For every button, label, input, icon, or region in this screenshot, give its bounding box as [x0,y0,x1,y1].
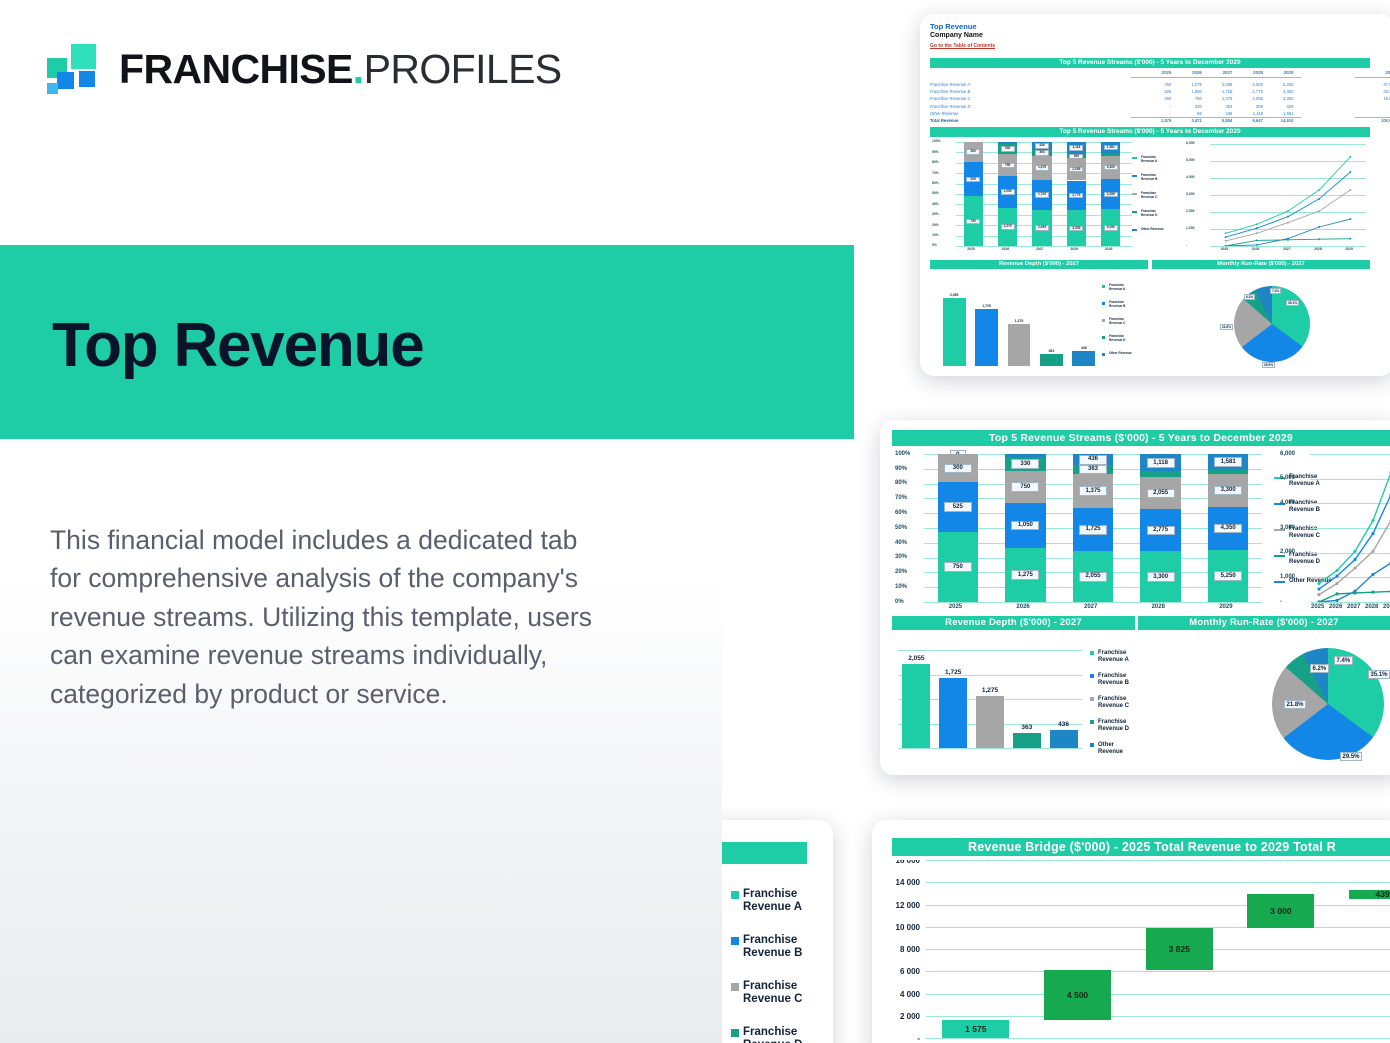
y-tick: 1,000 [1280,574,1295,580]
sheet-cell: 1,575 [1137,118,1171,123]
bar-data-label: 4,350 [1104,192,1118,198]
legend-swatch [1102,353,1105,356]
legend-label: Other Revenue [1098,742,1140,755]
legend-label: Other Revenue [1141,228,1169,232]
bar-data-label: 1,725 [1079,525,1107,535]
depth-data-label: 436 [1074,346,1094,350]
depth-bar [1050,730,1078,748]
x-tick: 2028 [1070,247,1078,251]
y-tick: 16 000 [876,860,920,865]
y-tick: 3,000 [1280,525,1295,531]
y-tick: 3,000 [1186,192,1195,196]
y-tick: 8 000 [876,945,920,954]
x-tick: 2029 [1383,604,1390,610]
sheet-cell: 1,050 [1168,89,1202,94]
y-tick: 60% [895,510,907,516]
sheet-cell: 2,775 [1229,89,1263,94]
sheet-row-label: Franchise Revenue C [930,96,971,101]
bar-data-label: 1,275 [1011,570,1039,580]
bar-data-label: 1,581 [1214,457,1242,467]
sheet-row-label: Franchise Revenue B [930,89,970,94]
legend-label: Franchise Revenue C [1109,318,1137,325]
sheet-cell: 2,055 [1229,96,1263,101]
bar-data-label: 330 [1011,459,1039,469]
x-tick: 2028 [1365,604,1378,610]
legend-swatch [731,1029,739,1037]
bar-data-label: 1,581 [1104,145,1118,151]
legend-item: Franchise Revenue A [1132,156,1169,163]
legend-swatch [1132,193,1137,195]
revenue-bridge-waterfall-chart: 16 00014 00012 00010 0008 0006 0004 0002… [872,860,1390,1043]
legend-item: Franchise Revenue C [1132,192,1169,199]
depth-bar [976,696,1004,748]
legend-label: Franchise Revenue A [1098,650,1140,663]
sheet-mini-pie-chart: 35.1%29.5%21.8%6.2%7.4% [1152,272,1370,376]
y-tick: 0% [932,243,937,247]
bar-data-label: 2,055 [1147,489,1175,499]
sheet-cell: 750 [1168,96,1202,101]
grid-line [926,882,1390,883]
pie-pct-label: 29.5% [1340,752,1362,761]
depth-data-label: 363 [1041,349,1061,353]
y-tick: - [1280,599,1282,605]
x-tick: 2025 [949,604,962,610]
legend-label: Franchise Revenue B [1098,673,1140,686]
legend-swatch [731,937,739,945]
y-tick: 30% [932,212,939,216]
revenue-bridge-panel: Revenue Bridge ($'000) - 2025 Total Reve… [872,820,1390,1043]
legend-label: Franchise Revenue D [1109,335,1137,342]
depth-data-label: 2,055 [900,655,932,662]
y-tick: 80% [895,480,907,486]
legend-item: Other Revenue [1132,228,1169,232]
y-tick: 10% [895,584,907,590]
bar-data-label: 525 [944,502,972,512]
sheet-cell: 399 [1229,104,1263,109]
sheet-rule [1131,77,1301,78]
bar-data-label: 300 [944,464,972,474]
x-tick: 2026 [1252,247,1260,251]
legend-swatch [1132,157,1137,159]
sheet-year-header: 2028 [1229,70,1263,75]
legend-item: Franchise Revenue D [1102,335,1137,342]
sheet-cell-pct: 47.6% [1361,82,1390,87]
x-tick: 2025 [1221,247,1229,251]
legend-label: Franchise Revenue D [743,1026,805,1043]
bar-data-label: 3,300 [1104,165,1118,171]
bar-data-label: 2,775 [1069,193,1083,199]
y-tick: 50% [895,525,907,531]
x-tick: 2029 [1345,247,1353,251]
legend-swatch [1090,743,1094,747]
legend-item: Franchise Revenue A [1090,650,1140,663]
bar-data-label: 750 [1011,482,1039,492]
sheet-cell: 436 [1198,111,1232,116]
spreadsheet-preview-panel: Top Revenue Company Name Go to the Table… [920,14,1390,376]
y-tick: 5,000 [1186,158,1195,162]
waterfall-data-label: 3 000 [1247,906,1314,916]
bar-data-label: 5,250 [1104,225,1118,231]
x-tick: 2025 [1311,604,1324,610]
brand-name-bold: FRANCHISE [119,46,353,92]
legend-swatch [1090,697,1094,701]
sheet-company-name: Company Name [930,32,983,39]
line-series-svg [1310,454,1390,602]
sheet-cell: 5,250 [1259,82,1293,87]
depth-data-label: 1,275 [1009,319,1029,323]
y-tick: 20% [895,569,907,575]
bar-data-label: 1,118 [1147,458,1175,468]
sheet-cell: 3,471 [1168,118,1202,123]
legend-swatch [1132,229,1137,231]
sheet-year-header-pct: 2025 [1361,70,1390,75]
bar-data-label: 750 [1001,163,1015,169]
y-tick: 30% [895,554,907,560]
bar-data-label: 1,275 [1001,224,1015,230]
sheet-cell: 429 [1259,104,1293,109]
revenue-bridge-title: Revenue Bridge ($'000) - 2025 Total Reve… [892,838,1390,856]
pie-pct-label: 35.1% [1368,670,1390,679]
sheet-cell-pct: - [1361,111,1390,116]
sheet-cell: 2,055 [1198,82,1232,87]
grid-line [926,905,1390,906]
waterfall-data-label: 3 825 [1146,944,1213,954]
y-tick: 14 000 [876,878,920,887]
sheet-cell-pct: 100.0% [1361,118,1390,123]
brand-wordmark: FRANCHISE.PROFILES [119,49,562,90]
y-tick: 2 000 [876,1012,920,1021]
sheet-mini-depth-chart: 2,0551,7251,275363436Franchise Revenue A… [930,272,1148,372]
depth-bar [1013,733,1041,748]
line-chart: 6,0005,0004,0003,0002,0001,000-202520262… [1280,450,1390,616]
grid-line [898,748,1082,749]
pie-pct-label: 7.4% [1270,288,1281,294]
x-tick: 2027 [1283,247,1291,251]
sheet-cell: 3,300 [1229,82,1263,87]
y-tick: 20% [932,223,939,227]
depth-bar [902,664,930,748]
sheet-cell: - [1137,111,1171,116]
pie-pct-label: 7.4% [1334,656,1353,665]
sheet-toc-link[interactable]: Go to the Table of Contents [930,43,995,49]
sheet-cell: 300 [1137,96,1171,101]
x-tick: 2025 [967,247,975,251]
legend-label: Franchise Revenue A [1109,284,1137,291]
depth-data-label: 1,275 [974,687,1006,694]
depth-bar [1040,354,1063,366]
y-tick: 2,000 [1186,209,1195,213]
legend-label: Franchise Revenue B [1109,301,1137,308]
legend-item: Franchise Revenue C [731,980,805,1006]
y-tick: 4,000 [1280,500,1295,506]
sheet-band-4: Monthly Run-Rate ($'000) - 2027 [1152,260,1370,269]
y-tick: 10% [932,233,939,237]
bar-data-label: 436 [1035,143,1049,149]
y-tick: 6,000 [1280,451,1295,457]
sheet-cell: 66 [1168,111,1202,116]
y-tick: 100% [932,139,941,143]
legend-swatch [1102,285,1105,288]
y-tick: 4,000 [1186,175,1195,179]
sheet-cell: 14,910 [1259,118,1293,123]
sheet-band-3: Revenue Depth ($'000) - 2027 [930,260,1148,269]
legend-swatch [1132,175,1137,177]
legend-item: Franchise Revenue A [731,888,805,914]
sheet-cell: 9,647 [1229,118,1263,123]
grid-line [926,1016,1390,1017]
bar-data-label: 525 [966,177,980,183]
sheet-year-header: 2029 [1259,70,1293,75]
y-tick: 50% [932,191,939,195]
sheet-band-2: Top 5 Revenue Streams ($'000) - 5 Years … [930,127,1370,137]
legend-item: Franchise Revenue D [731,1026,805,1043]
bar-data-label: 1,050 [1001,189,1015,195]
grid-line [926,1038,1390,1039]
runrate-chart-title: Monthly Run-Rate ($'000) - 2027 [1138,616,1390,630]
legend-label: Franchise Revenue A [1141,156,1169,163]
bar-data-label: 750 [944,562,972,572]
sheet-cell: 1,581 [1259,111,1293,116]
y-tick: 10 000 [876,923,920,932]
left-content-column: FRANCHISE.PROFILES This financial model … [0,0,722,1043]
bar-data-label: 2,055 [1079,572,1107,582]
legend-item: Franchise Revenue C [1090,696,1140,709]
legend-label: Franchise Revenue D [1098,719,1140,732]
sheet-cell: 1,118 [1229,111,1263,116]
legend-item: Franchise Revenue D [1090,719,1140,732]
sheet-cell: 3,300 [1259,96,1293,101]
revenue-depth-chart: 2,0551,7251,275363436Franchise Revenue A… [892,634,1138,766]
legend-label: Franchise Revenue B [743,934,805,960]
bar-data-label: 3,300 [1069,226,1083,232]
bar-data-label: 3,300 [1147,572,1175,582]
legend-label: Franchise Revenue C [743,980,805,1006]
sheet-year-header: 2026 [1168,70,1202,75]
line-series-svg [1210,144,1366,246]
y-tick: 90% [932,150,939,154]
y-tick: 90% [895,466,907,472]
y-tick: 40% [895,540,907,546]
x-tick: 2028 [1152,604,1165,610]
bar-data-label: 1,050 [1011,521,1039,531]
legend-swatch [731,983,739,991]
sheet-cell-pct: - [1361,104,1390,109]
y-tick: 60% [932,181,939,185]
y-tick: - [1186,243,1187,247]
legend-label: Franchise Revenue D [1141,210,1169,217]
sheet-cell: 1,375 [1198,96,1232,101]
description-paragraph: This financial model includes a dedicate… [50,521,610,713]
pie-pct-label: 6.2% [1244,294,1255,300]
x-tick: 2027 [1347,604,1360,610]
y-tick: 5,000 [1280,475,1295,481]
sheet-year-header: 2027 [1198,70,1232,75]
y-tick: 6,000 [1186,141,1195,145]
bar-data-label: 5,250 [1214,571,1242,581]
y-tick: 0% [895,599,904,605]
waterfall-data-label: 1 575 [942,1024,1009,1034]
y-tick: 100% [895,451,910,457]
grid-line [924,602,1262,603]
bar-data-label: 363 [1035,150,1049,156]
x-tick: 2026 [1002,247,1010,251]
grid-line [1310,602,1390,603]
bar-data-label: 436 [1079,455,1107,465]
sheet-cell: 4,350 [1259,89,1293,94]
sheet-mini-line-chart: 6,0005,0004,0003,0002,0001,000-202520262… [1184,140,1370,256]
legend-item: Franchise Revenue B [1090,673,1140,686]
y-tick: 12 000 [876,901,920,910]
sheet-cell: 1,725 [1198,89,1232,94]
legend-swatch [1090,720,1094,724]
y-tick: 4 000 [876,990,920,999]
legend-swatch [731,891,739,899]
legend-item: Other Revenue [1090,742,1140,755]
pie-pct-label: 21.8% [1284,700,1306,709]
bar-data-label: 4,350 [1214,524,1242,534]
pie-pct-label: 6.2% [1310,664,1329,673]
sheet-mini-stacked-chart: 100%90%80%70%60%50%40%30%20%10%0%3005257… [930,140,1182,256]
sheet-cell: 5,854 [1198,118,1232,123]
bar-data-label: 300 [966,149,980,155]
legend-label: Franchise Revenue A [743,888,805,914]
depth-data-label: 436 [1048,721,1080,728]
bar-data-label: 750 [966,219,980,225]
brand-logo: FRANCHISE.PROFILES [47,44,562,94]
depth-data-label: 1,725 [937,669,969,676]
bar-data-label: 1,375 [1079,486,1107,496]
legend-item: Franchise Revenue B [731,934,805,960]
page-title: Top Revenue [52,310,424,381]
depth-bar [1008,324,1031,367]
sheet-year-header: 2025 [1137,70,1171,75]
legend-swatch [1132,211,1137,213]
depth-data-label: 2,055 [944,293,964,297]
y-tick: - [876,1034,920,1043]
legend-swatch [1102,302,1105,305]
legend-label: Franchise Revenue B [1141,174,1169,181]
bar-data-label: 1,375 [1035,165,1049,171]
legend-item: Franchise Revenue B [1132,174,1169,181]
legend-swatch [1090,674,1094,678]
charts-preview-panel: Top 5 Revenue Streams ($'000) - 5 Years … [880,420,1390,775]
depth-bar [943,298,966,367]
sheet-cell: 750 [1137,82,1171,87]
bar-data-label: 2,775 [1147,526,1175,536]
x-tick: 2027 [1084,604,1097,610]
sheet-cell: 1,275 [1168,82,1202,87]
y-tick: 40% [932,202,939,206]
bar-data-label: 1,725 [1035,192,1049,198]
legend-item: Franchise Revenue A [1102,284,1137,291]
brand-name-light: PROFILES [364,46,562,92]
y-tick: 2,000 [1280,549,1295,555]
revenue-mix-pie-chart: 35.1%29.5%21.8%6.2%7.4% [1144,634,1390,766]
pie-pct-label: 29.5% [1262,362,1275,368]
depth-data-label: 1,725 [977,304,997,308]
sheet-row-label: Franchise Revenue A [930,82,970,87]
legend-item: Franchise Revenue D [1132,210,1169,217]
y-tick: 70% [932,171,939,175]
x-tick: 2029 [1219,604,1232,610]
sheet-cell: 363 [1198,104,1232,109]
x-tick: 2027 [1036,247,1044,251]
sheet-title: Top Revenue [930,22,977,31]
stacked-chart-title: Top 5 Revenue Streams ($'000) - 5 Years … [892,430,1390,446]
legend-label: Other Revenue [1109,352,1137,356]
legend-label: Franchise Revenue C [1141,192,1169,199]
x-tick: 2026 [1016,604,1029,610]
squares-logo-icon [47,44,105,94]
legend-swatch [1102,336,1105,339]
y-tick: 80% [932,160,939,164]
sheet-cell: 330 [1168,104,1202,109]
waterfall-data-label: 4 500 [1044,990,1111,1000]
sheet-row-label: Total Revenue [930,118,958,123]
grid-line [926,971,1390,972]
grid-line [926,860,1390,861]
x-tick: 2028 [1314,247,1322,251]
depth-chart-title: Revenue Depth ($'000) - 2027 [892,616,1135,630]
y-tick: 6 000 [876,967,920,976]
y-tick: 70% [895,495,907,501]
legend-label: Franchise Revenue C [1098,696,1140,709]
sheet-row-label: Other Revenue [930,111,958,116]
legend-item: Other Revenue [1102,352,1137,356]
bar-data-label: 1,118 [1069,145,1083,151]
brand-dot: . [353,46,364,92]
bar-data-label: 330 [1001,146,1015,152]
x-tick: 2029 [1105,247,1113,251]
sheet-cell: - [1137,104,1171,109]
depth-bar [975,309,998,367]
bar-data-label: 2,055 [1035,225,1049,231]
pie-pct-label: 35.1% [1286,300,1299,306]
depth-bar [1072,351,1095,366]
grid-line [926,994,1390,995]
y-tick: 1,000 [1186,226,1195,230]
sheet-cell: 525 [1137,89,1171,94]
sheet-rule [1355,77,1390,78]
legend-item: Franchise Revenue B [1102,301,1137,308]
sheet-band-1: Top 5 Revenue Streams ($'000) - 5 Years … [930,58,1370,68]
bar-data-label: 2,055 [1069,167,1083,173]
legend-swatch [1102,319,1105,322]
waterfall-data-label: 439 [1349,889,1390,899]
pie-pct-label: 21.8% [1220,324,1233,330]
legend-item: Franchise Revenue C [1102,318,1137,325]
sheet-cell-pct: 33.3% [1361,89,1390,94]
sheet-row-label: Franchise Revenue D [930,104,971,109]
sheet-data-table: 2025202520262026202720272028202820292029… [920,70,1390,125]
sheet-cell-pct: 19.0% [1361,96,1390,101]
legend-swatch [1090,651,1094,655]
depth-bar [939,678,967,748]
depth-data-label: 363 [1011,724,1043,731]
bar-data-label: 3,300 [1214,486,1242,496]
grid-line [898,650,1082,651]
x-tick: 2026 [1329,604,1342,610]
